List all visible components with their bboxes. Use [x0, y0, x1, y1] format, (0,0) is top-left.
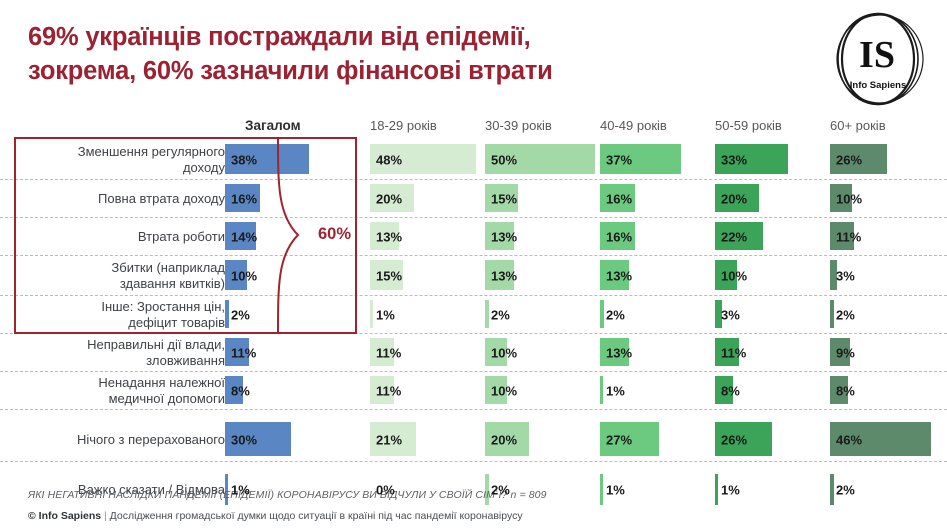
table-cell: 8%: [225, 372, 355, 409]
value-label: 15%: [491, 191, 517, 206]
value-label: 21%: [376, 432, 402, 447]
value-label: 1%: [376, 307, 395, 322]
table-cell: 20%: [485, 418, 595, 461]
value-label: 13%: [491, 229, 517, 244]
table-row: Інше: Зростання цін,дефіцит товарів2%1%2…: [0, 296, 947, 334]
chart-rows: Зменшення регулярногодоходу38%48%50%37%3…: [0, 140, 947, 510]
column-header-3: 40-49 років: [600, 118, 667, 133]
table-cell: 11%: [225, 334, 355, 371]
value-label: 10%: [491, 383, 517, 398]
value-label: 48%: [376, 152, 402, 167]
source-study: Дослідження громадської думки щодо ситуа…: [110, 510, 523, 522]
table-cell: 11%: [370, 334, 480, 371]
table-cell: 20%: [370, 180, 480, 217]
source-line: © Info Sapiens | Дослідження громадської…: [28, 510, 523, 522]
row-label: Неправильні дії влади,зловживання: [25, 337, 225, 369]
table-cell: 2%: [485, 296, 595, 333]
value-label: 10%: [721, 268, 747, 283]
row-label-line: зловживання: [25, 353, 225, 369]
row-label-line: доходу: [25, 160, 225, 176]
source-copyright: © Info Sapiens: [28, 510, 101, 522]
row-label: Ненадання належноїмедичної допомоги: [25, 375, 225, 407]
value-label: 10%: [491, 345, 517, 360]
value-bar: [485, 300, 489, 328]
row-label: Інше: Зростання цін,дефіцит товарів: [25, 299, 225, 331]
value-label: 30%: [231, 432, 257, 447]
table-cell: 1%: [600, 470, 710, 510]
row-label-line: дефіцит товарів: [25, 315, 225, 331]
column-header-2: 30-39 років: [485, 118, 552, 133]
table-cell: 13%: [600, 256, 710, 295]
table-cell: 21%: [370, 418, 480, 461]
crosstab-chart: Загалом18-29 років30-39 років40-49 років…: [0, 118, 947, 478]
value-bar: [600, 474, 603, 505]
footnote-sample-size: n = 809: [511, 489, 547, 501]
value-label: 11%: [376, 383, 401, 398]
table-cell: 8%: [715, 372, 825, 409]
value-label: 0%: [376, 483, 395, 498]
value-label: 37%: [606, 152, 632, 167]
value-label: 20%: [491, 432, 517, 447]
table-cell: 10%: [485, 372, 595, 409]
table-cell: 2%: [600, 296, 710, 333]
callout-total-label: 60%: [318, 225, 351, 244]
value-label: 11%: [836, 229, 861, 244]
table-cell: 10%: [485, 334, 595, 371]
value-label: 11%: [376, 345, 401, 360]
value-label: 50%: [491, 152, 517, 167]
value-bar: [600, 300, 604, 328]
column-header-total: Загалом: [245, 118, 301, 133]
value-label: 16%: [606, 229, 632, 244]
value-label: 8%: [721, 383, 740, 398]
value-label: 1%: [231, 483, 250, 498]
table-row: Неправильні дії влади,зловживання11%11%1…: [0, 334, 947, 372]
table-cell: 3%: [715, 296, 825, 333]
table-row: Нічого з перерахованого30%21%20%27%26%46…: [0, 418, 947, 462]
value-label: 20%: [721, 191, 747, 206]
table-cell: 46%: [830, 418, 942, 461]
column-header-5: 60+ років: [830, 118, 886, 133]
row-label-line: Повна втрата доходу: [25, 191, 225, 207]
table-row: Втрата роботи14%13%13%16%22%11%: [0, 218, 947, 256]
value-label: 1%: [721, 483, 740, 498]
row-label-line: здавання квитків): [25, 276, 225, 292]
info-sapiens-logo: IS Info Sapiens: [831, 12, 925, 106]
value-label: 8%: [836, 383, 855, 398]
value-label: 33%: [721, 152, 747, 167]
value-label: 15%: [376, 268, 402, 283]
table-cell: 2%: [830, 470, 942, 510]
source-separator: |: [104, 510, 107, 522]
footnote-question: ЯКІ НЕГАТИВНІ НАСЛІДКИ ПАНДЕМІЇ (ЕПІДЕМІ…: [28, 489, 508, 501]
value-label: 26%: [836, 152, 862, 167]
table-cell: 13%: [485, 256, 595, 295]
table-cell: 26%: [830, 140, 942, 179]
value-label: 16%: [231, 191, 257, 206]
row-label: Повна втрата доходу: [25, 191, 225, 207]
value-label: 13%: [606, 345, 632, 360]
table-cell: 2%: [830, 296, 942, 333]
column-header-4: 50-59 років: [715, 118, 782, 133]
table-cell: 1%: [370, 296, 480, 333]
table-cell: 9%: [830, 334, 942, 371]
row-label-line: Неправильні дії влади,: [25, 337, 225, 353]
value-label: 22%: [721, 229, 747, 244]
logo-name: Info Sapiens: [850, 80, 906, 91]
row-label: Зменшення регулярногодоходу: [25, 144, 225, 176]
value-label: 20%: [376, 191, 402, 206]
table-cell: 50%: [485, 140, 595, 179]
table-row: Ненадання належноїмедичної допомоги8%11%…: [0, 372, 947, 410]
value-label: 1%: [606, 383, 625, 398]
table-row: Збитки (наприкладздавання квитків)10%15%…: [0, 256, 947, 296]
table-cell: 11%: [370, 372, 480, 409]
table-row: Повна втрата доходу16%20%15%16%20%10%: [0, 180, 947, 218]
row-label-line: Нічого з перерахованого: [25, 432, 225, 448]
value-label: 27%: [606, 432, 632, 447]
value-label: 38%: [231, 152, 257, 167]
value-label: 26%: [721, 432, 747, 447]
row-label: Нічого з перерахованого: [25, 432, 225, 448]
logo-icon: IS Info Sapiens: [831, 12, 925, 106]
value-label: 2%: [491, 307, 510, 322]
value-bar: [830, 474, 834, 505]
value-label: 13%: [491, 268, 517, 283]
column-headers: Загалом18-29 років30-39 років40-49 років…: [0, 118, 947, 140]
table-cell: 27%: [600, 418, 710, 461]
value-label: 10%: [836, 191, 862, 206]
table-row: Зменшення регулярногодоходу38%48%50%37%3…: [0, 140, 947, 180]
row-label-line: Інше: Зростання цін,: [25, 299, 225, 315]
column-header-1: 18-29 років: [370, 118, 437, 133]
value-label: 13%: [376, 229, 402, 244]
table-cell: 1%: [715, 470, 825, 510]
table-cell: 15%: [370, 256, 480, 295]
table-cell: 13%: [370, 218, 480, 255]
row-label: Втрата роботи: [25, 229, 225, 245]
table-cell: 16%: [600, 218, 710, 255]
value-label: 2%: [836, 483, 855, 498]
row-label-line: Зменшення регулярного: [25, 144, 225, 160]
svg-text:IS: IS: [859, 34, 895, 76]
row-label: Збитки (наприкладздавання квитків): [25, 260, 225, 292]
value-label: 1%: [606, 483, 625, 498]
row-label-line: Збитки (наприклад: [25, 260, 225, 276]
title-line-2: зокрема, 60% зазначили фінансові втрати: [28, 54, 788, 88]
table-cell: 13%: [485, 218, 595, 255]
table-cell: 26%: [715, 418, 825, 461]
table-cell: 33%: [715, 140, 825, 179]
table-cell: 8%: [830, 372, 942, 409]
value-label: 3%: [836, 268, 855, 283]
question-footnote: ЯКІ НЕГАТИВНІ НАСЛІДКИ ПАНДЕМІЇ (ЕПІДЕМІ…: [28, 489, 547, 501]
row-label-line: Ненадання належної: [25, 375, 225, 391]
row-label-line: медичної допомоги: [25, 391, 225, 407]
value-label: 3%: [721, 307, 740, 322]
table-cell: 48%: [370, 140, 480, 179]
value-label: 2%: [836, 307, 855, 322]
table-cell: 10%: [830, 180, 942, 217]
table-cell: 10%: [715, 256, 825, 295]
value-label: 16%: [606, 191, 632, 206]
value-bar: [715, 474, 718, 505]
value-label: 9%: [836, 345, 855, 360]
value-bar: [370, 300, 373, 328]
table-cell: 15%: [485, 180, 595, 217]
row-label-line: Втрата роботи: [25, 229, 225, 245]
value-label: 46%: [836, 432, 862, 447]
value-label: 11%: [721, 345, 746, 360]
value-label: 10%: [231, 268, 257, 283]
value-label: 11%: [231, 345, 256, 360]
value-label: 2%: [491, 483, 510, 498]
value-label: 2%: [606, 307, 625, 322]
table-cell: 30%: [225, 418, 355, 461]
value-bar: [225, 300, 229, 328]
value-bar: [830, 300, 834, 328]
value-bar: [600, 376, 603, 404]
table-cell: 20%: [715, 180, 825, 217]
table-cell: 11%: [715, 334, 825, 371]
table-cell: 13%: [600, 334, 710, 371]
title-line-1: 69% українців постраждали від епідемії,: [28, 20, 788, 54]
value-label: 13%: [606, 268, 632, 283]
table-cell: 1%: [600, 372, 710, 409]
value-label: 2%: [231, 307, 250, 322]
table-cell: 11%: [830, 218, 942, 255]
callout-brace-icon: [276, 137, 310, 334]
value-label: 8%: [231, 383, 250, 398]
table-cell: 16%: [600, 180, 710, 217]
value-label: 14%: [231, 229, 257, 244]
table-cell: 22%: [715, 218, 825, 255]
table-cell: 37%: [600, 140, 710, 179]
table-cell: 3%: [830, 256, 942, 295]
page-title: 69% українців постраждали від епідемії, …: [28, 20, 788, 88]
